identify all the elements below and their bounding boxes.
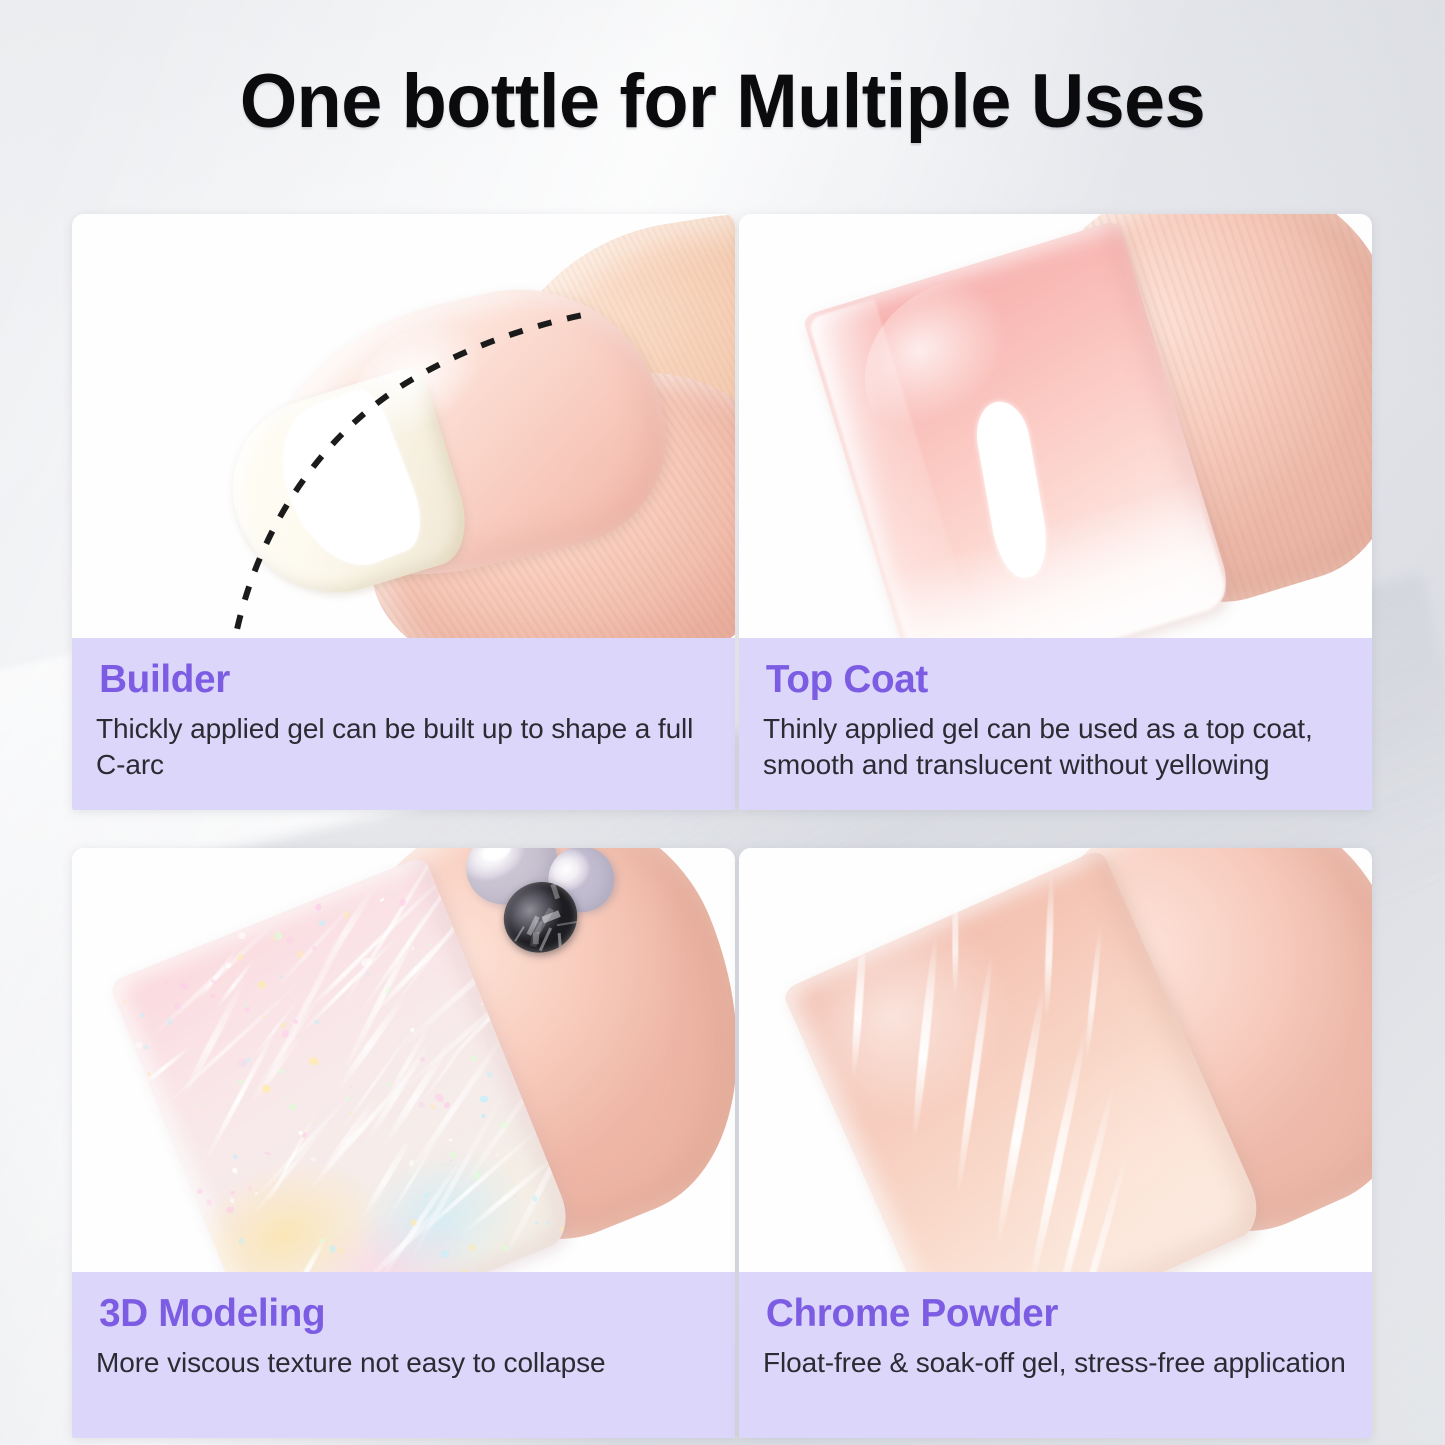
chrome-body: Float-free & soak-off gel, stress-free a… [763,1345,1348,1381]
chrome-caption: Chrome Powder Float-free & soak-off gel,… [739,1272,1372,1438]
top-coat-nail-illustration [744,214,1372,638]
builder-caption: Builder Thickly applied gel can be built… [72,638,735,810]
page-title: One bottle for Multiple Uses [22,62,1424,143]
top-coat-heading: Top Coat [766,660,1345,699]
top-coat-caption: Top Coat Thinly applied gel can be used … [739,638,1372,810]
feature-card-builder[interactable]: Builder Thickly applied gel can be built… [72,214,735,810]
modeling-caption: 3D Modeling More viscous texture not eas… [72,1272,735,1438]
feature-card-3d-modeling[interactable]: 3D Modeling More viscous texture not eas… [72,848,735,1438]
top-coat-photo [739,214,1372,638]
modeling-body: More viscous texture not easy to collaps… [96,1345,711,1381]
grid-cell-chrome-powder: Chrome Powder Float-free & soak-off gel,… [739,848,1368,1438]
top-coat-body: Thinly applied gel can be used as a top … [763,711,1348,784]
builder-body: Thickly applied gel can be built up to s… [96,711,711,784]
builder-finger-illustration [157,214,735,638]
grid-cell-3d-modeling: 3D Modeling More viscous texture not eas… [72,848,735,1438]
chrome-photo [739,848,1372,1272]
feature-card-grid: Builder Thickly applied gel can be built… [72,214,1372,1438]
grid-cell-top-coat: Top Coat Thinly applied gel can be used … [739,214,1368,810]
grid-cell-builder: Builder Thickly applied gel can be built… [72,214,735,810]
builder-photo [72,214,735,638]
modeling-photo [72,848,735,1272]
chrome-heading: Chrome Powder [766,1294,1345,1333]
feature-card-chrome-powder[interactable]: Chrome Powder Float-free & soak-off gel,… [739,848,1372,1438]
chrome-nail-illustration [739,848,1372,1272]
modeling-heading: 3D Modeling [99,1294,708,1333]
feature-card-top-coat[interactable]: Top Coat Thinly applied gel can be used … [739,214,1372,810]
builder-heading: Builder [99,660,708,699]
modeling-nail-illustration [72,848,735,1272]
infographic-page: One bottle for Multiple Uses [0,0,1445,1445]
